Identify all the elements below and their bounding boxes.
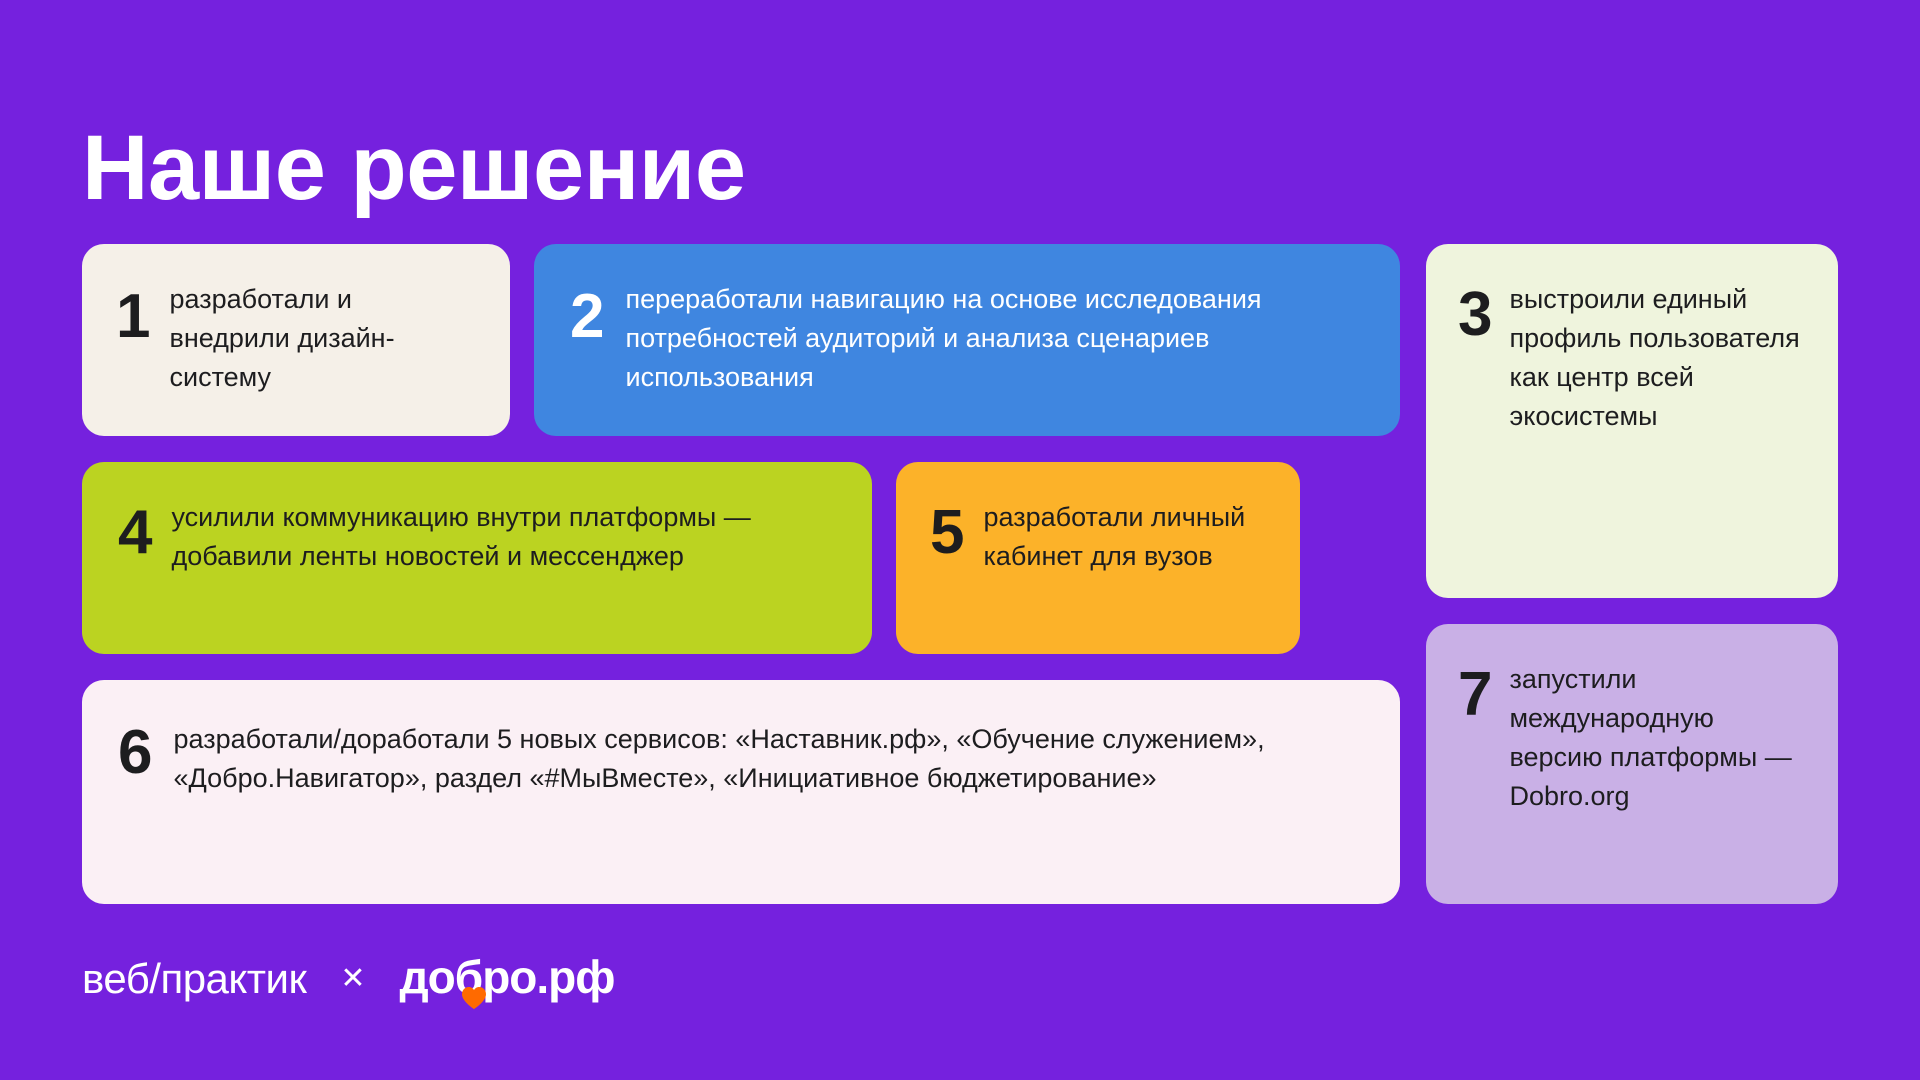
webpractic-logo: веб/практик bbox=[82, 958, 306, 1000]
solution-card-7: 7 запустили международную версию платфор… bbox=[1426, 624, 1838, 904]
card-number: 1 bbox=[116, 286, 149, 348]
card-text: усилили коммуникацию внутри платформы — … bbox=[171, 498, 842, 576]
dobro-rf-logo: добро.рф bbox=[399, 954, 614, 1004]
card-number: 7 bbox=[1458, 664, 1491, 726]
card-text: выстроили единый профиль пользователя ка… bbox=[1509, 280, 1808, 437]
solution-card-4: 4 усилили коммуникацию внутри платформы … bbox=[82, 462, 872, 654]
card-text: разработали/доработали 5 новых сервисов:… bbox=[173, 720, 1364, 798]
solution-card-3: 3 выстроили единый профиль пользователя … bbox=[1426, 244, 1838, 598]
card-text: запустили международную версию платформы… bbox=[1509, 660, 1808, 817]
card-text: разработали и внедрили дизайн-систему bbox=[169, 280, 476, 397]
card-text: разработали личный кабинет для вузов bbox=[983, 498, 1272, 576]
solution-card-6: 6 разработали/доработали 5 новых сервисо… bbox=[82, 680, 1400, 904]
card-number: 6 bbox=[118, 722, 151, 784]
card-number: 5 bbox=[930, 502, 963, 564]
card-number: 3 bbox=[1458, 284, 1491, 346]
card-text: переработали навигацию на основе исследо… bbox=[625, 280, 1364, 397]
cross-separator-icon: ✕ bbox=[340, 964, 365, 994]
slide-root: Наше решение 1 разработали и внедрили ди… bbox=[0, 0, 1920, 1080]
solution-card-1: 1 разработали и внедрили дизайн-систему bbox=[82, 244, 510, 436]
solution-card-2: 2 переработали навигацию на основе иссле… bbox=[534, 244, 1400, 436]
card-number: 2 bbox=[570, 286, 603, 348]
card-number: 4 bbox=[118, 502, 151, 564]
heart-icon bbox=[461, 986, 487, 1010]
footer-logos: веб/практик ✕ добро.рф bbox=[82, 954, 615, 1004]
solution-card-grid: 1 разработали и внедрили дизайн-систему … bbox=[82, 244, 1838, 904]
page-title: Наше решение bbox=[82, 120, 746, 217]
solution-card-5: 5 разработали личный кабинет для вузов bbox=[896, 462, 1300, 654]
dobro-rf-logo-text: добро.рф bbox=[399, 951, 614, 1003]
